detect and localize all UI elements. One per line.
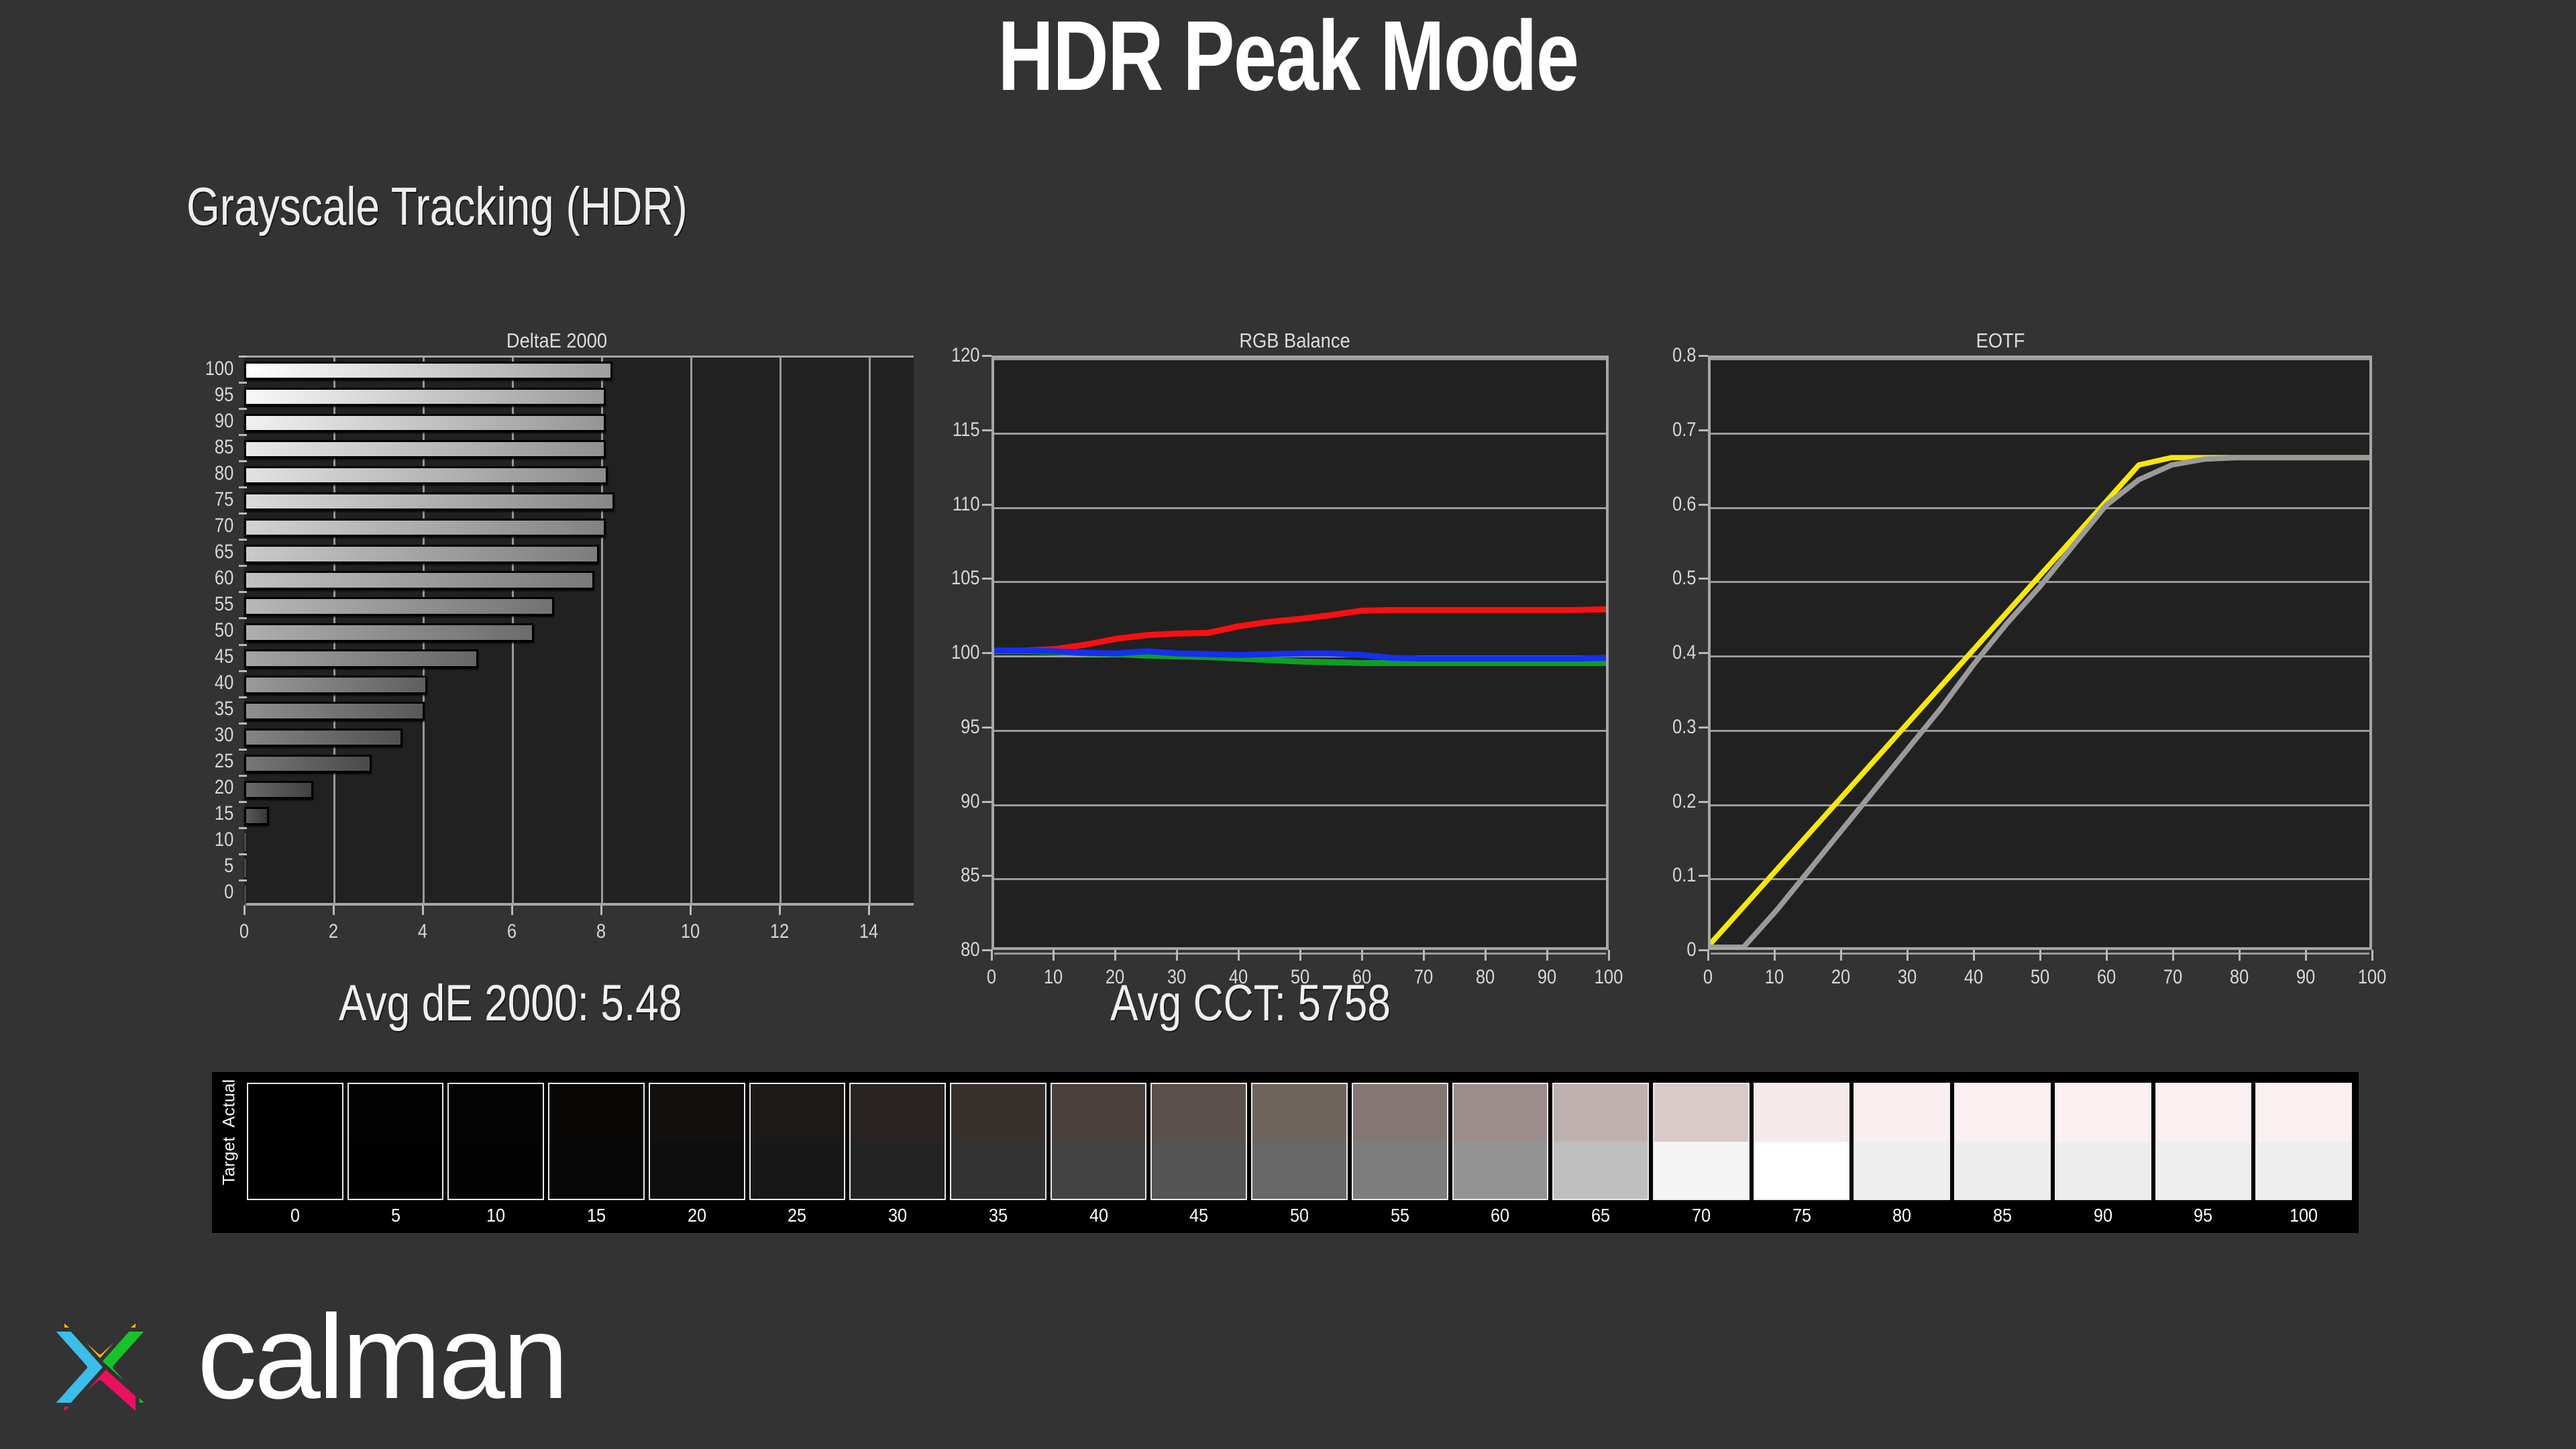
grayscale-patch <box>2055 1083 2151 1200</box>
patch-actual <box>1755 1084 1849 1142</box>
x-tickmark <box>779 906 781 915</box>
eotf-plot-area <box>1708 356 2372 950</box>
patch-axis-labels: ActualTarget <box>212 1072 244 1233</box>
x-tick-label: 80 <box>2230 966 2249 989</box>
y-tick-label: 0 <box>1640 938 1697 961</box>
y-tick-label: 50 <box>191 619 234 642</box>
x-tick-label: 70 <box>1414 966 1433 989</box>
patch-target <box>1855 1142 1949 1199</box>
y-tickmark <box>239 460 247 462</box>
patch-stimulus-label: 85 <box>1993 1205 2012 1226</box>
patch-target <box>1252 1142 1346 1199</box>
y-tick-label: 0 <box>191 881 234 904</box>
x-tickmark <box>1707 950 1709 961</box>
x-tick-label: 0 <box>987 966 996 989</box>
patch-stimulus-label: 70 <box>1692 1205 1711 1226</box>
calman-wordmark: calman <box>197 1297 566 1417</box>
patch-stimulus-label: 55 <box>1391 1205 1409 1226</box>
x-tickmark <box>1176 950 1178 961</box>
y-tickmark <box>239 539 247 541</box>
deltae-bar <box>244 545 599 563</box>
patch-stimulus-label: 0 <box>290 1205 300 1226</box>
y-tick-label: 0.6 <box>1640 493 1697 516</box>
patch-actual <box>1052 1084 1146 1142</box>
patch-target <box>851 1142 945 1199</box>
rgb-plot-area <box>991 356 1609 950</box>
x-tickmark <box>2039 950 2041 961</box>
x-tick-label: 12 <box>770 920 789 943</box>
y-tickmark <box>239 408 247 410</box>
chart-title-deltae: DeltaE 2000 <box>244 329 870 353</box>
patch-actual <box>1152 1084 1246 1142</box>
x-tickmark <box>690 906 692 915</box>
y-tickmark <box>982 355 991 357</box>
x-tick-label: 10 <box>681 920 700 943</box>
deltae-plot-area <box>244 356 914 906</box>
x-tickmark <box>1114 950 1116 961</box>
y-tickmark <box>982 504 991 506</box>
patch-target <box>1353 1142 1447 1199</box>
y-tickmark <box>982 652 991 654</box>
x-tick-label: 8 <box>596 920 606 943</box>
grayscale-patch <box>1352 1083 1448 1200</box>
patch-stimulus-label: 5 <box>391 1205 400 1226</box>
patch-target <box>1755 1142 1849 1199</box>
patch-target <box>2056 1142 2150 1199</box>
y-tick-label: 10 <box>191 828 234 851</box>
grayscale-patch <box>950 1083 1046 1200</box>
y-tickmark <box>239 853 247 855</box>
patch-actual <box>248 1084 342 1142</box>
patch-target <box>1955 1142 2049 1199</box>
patch-actual <box>2257 1084 2351 1142</box>
y-tickmark <box>1699 652 1708 654</box>
patch-target <box>449 1142 543 1199</box>
patch-actual <box>2056 1084 2150 1142</box>
patch-actual <box>951 1084 1045 1142</box>
y-tickmark <box>239 696 247 698</box>
y-tick-label: 65 <box>191 541 234 563</box>
section-title: Grayscale Tracking (HDR) <box>186 176 688 237</box>
series-line-blue <box>994 651 1606 659</box>
deltae-bar <box>244 440 606 458</box>
x-tick-label: 90 <box>1538 966 1556 989</box>
x-tickmark <box>1238 950 1240 961</box>
x-tickmark <box>1546 950 1548 961</box>
x-tick-label: 0 <box>1703 966 1713 989</box>
patch-actual <box>2157 1084 2251 1142</box>
deltae-bar <box>244 781 313 799</box>
y-tick-label: 35 <box>191 698 234 720</box>
patch-target <box>650 1142 744 1199</box>
y-tick-label: 85 <box>923 864 980 887</box>
y-tickmark <box>239 775 247 777</box>
x-tickmark <box>1774 950 1776 961</box>
chart-title-eotf: EOTF <box>1688 329 2314 353</box>
grayscale-patch <box>649 1083 745 1200</box>
avg-cct-label: Avg CCT: 5758 <box>1110 974 1391 1032</box>
x-tickmark <box>868 906 870 915</box>
x-tickmark <box>1840 950 1842 961</box>
x-tickmark <box>2172 950 2174 961</box>
y-tick-label: 85 <box>191 436 234 459</box>
patch-target <box>1454 1142 1548 1199</box>
y-tick-label: 75 <box>191 488 234 511</box>
grayscale-patch <box>1051 1083 1147 1200</box>
patch-stimulus-label: 90 <box>2094 1205 2112 1226</box>
x-tick-label: 100 <box>1595 966 1623 989</box>
rgb-balance-lines <box>994 358 1606 947</box>
patch-actual <box>751 1084 845 1142</box>
x-tick-label: 10 <box>1765 966 1784 989</box>
x-tickmark <box>991 950 993 961</box>
patch-actual <box>650 1084 744 1142</box>
y-tick-label: 95 <box>923 716 980 739</box>
patch-target <box>1654 1142 1748 1199</box>
grayscale-patch <box>2255 1083 2352 1200</box>
deltae-bar <box>244 362 612 380</box>
x-tickmark <box>333 906 335 915</box>
deltae-bar <box>244 466 608 484</box>
deltae-bar <box>244 807 269 825</box>
patch-stimulus-label: 50 <box>1290 1205 1309 1226</box>
y-tickmark <box>239 749 247 751</box>
y-tickmark <box>239 722 247 724</box>
y-tick-label: 0.7 <box>1640 419 1697 441</box>
y-tickmark <box>239 565 247 567</box>
patch-actual <box>1454 1084 1548 1142</box>
patch-actual <box>851 1084 945 1142</box>
patch-target <box>349 1142 443 1199</box>
x-tick-label: 70 <box>2163 966 2182 989</box>
y-tickmark <box>239 879 247 881</box>
x-tick-label: 20 <box>1831 966 1850 989</box>
y-tickmark <box>1699 801 1708 803</box>
y-tickmark <box>982 949 991 951</box>
patch-actual <box>449 1084 543 1142</box>
deltae-bar <box>244 833 246 851</box>
deltae-bar <box>244 729 402 747</box>
y-tick-label: 100 <box>923 641 980 664</box>
chart-deltae-2000: DeltaE 2000 1009590858075706560555045403… <box>201 329 912 966</box>
y-tick-label: 110 <box>923 493 980 516</box>
y-tick-label: 30 <box>191 724 234 747</box>
x-tickmark <box>2305 950 2307 961</box>
x-tickmark <box>1361 950 1363 961</box>
deltae-bar <box>244 571 594 589</box>
x-tick-label: 6 <box>507 920 517 943</box>
deltae-bar <box>244 702 425 720</box>
deltae-bars <box>244 358 914 903</box>
patch-stimulus-label: 65 <box>1591 1205 1610 1226</box>
chart-rgb-balance: RGB Balance 80859095100105110115120 0102… <box>939 329 1650 966</box>
grayscale-patch <box>2155 1083 2252 1200</box>
y-tickmark <box>1699 355 1708 357</box>
patch-stimulus-label: 80 <box>1892 1205 1911 1226</box>
y-tickmark <box>239 356 247 358</box>
avg-de-2000-label: Avg dE 2000: 5.48 <box>339 974 682 1032</box>
patch-stimulus-label: 75 <box>1792 1205 1811 1226</box>
patch-actual <box>1252 1084 1346 1142</box>
x-tickmark <box>1299 950 1301 961</box>
grayscale-patch <box>247 1083 343 1200</box>
series-line-measured <box>1711 458 2369 947</box>
x-tick-label: 90 <box>2296 966 2315 989</box>
chart-eotf: EOTF 00.10.20.30.40.50.60.70.8 010203040… <box>1645 329 2356 966</box>
y-tick-label: 120 <box>923 344 980 367</box>
y-tick-label: 20 <box>191 776 234 799</box>
grayscale-patch <box>1754 1083 1850 1200</box>
x-tick-label: 0 <box>239 920 249 943</box>
deltae-bar <box>244 755 372 773</box>
x-tickmark <box>2106 950 2108 961</box>
grayscale-patch <box>347 1083 444 1200</box>
patch-target <box>248 1142 342 1199</box>
patch-actual <box>1353 1084 1447 1142</box>
y-tick-label: 60 <box>191 567 234 590</box>
grayscale-patch <box>1954 1083 2051 1200</box>
grayscale-patch <box>1854 1083 1950 1200</box>
patch-actual <box>1554 1084 1648 1142</box>
x-tickmark <box>422 906 424 915</box>
grayscale-patch <box>548 1083 645 1200</box>
y-tickmark <box>239 486 247 488</box>
y-tick-label: 0.8 <box>1640 344 1697 367</box>
patch-target <box>751 1142 845 1199</box>
y-tickmark <box>1699 949 1708 951</box>
y-tick-label: 0.4 <box>1640 641 1697 664</box>
y-tickmark <box>1699 429 1708 431</box>
x-tickmark <box>1608 950 1610 961</box>
x-tickmark <box>244 906 246 915</box>
y-tickmark <box>982 727 991 729</box>
patch-stimulus-label: 40 <box>1089 1205 1108 1226</box>
patch-stimulus-label: 45 <box>1189 1205 1208 1226</box>
series-line-red <box>994 609 1606 651</box>
y-tick-label: 90 <box>923 790 980 813</box>
y-tickmark <box>239 591 247 593</box>
y-tickmark <box>982 429 991 431</box>
x-tickmark <box>1973 950 1975 961</box>
y-tickmark <box>239 513 247 515</box>
y-tick-label: 100 <box>191 358 234 380</box>
eotf-lines <box>1711 358 2369 947</box>
y-tickmark <box>1699 578 1708 580</box>
y-tick-label: 45 <box>191 645 234 668</box>
patch-actual <box>1955 1084 2049 1142</box>
x-tick-label: 2 <box>329 920 338 943</box>
grayscale-patch <box>849 1083 946 1200</box>
x-tick-label: 80 <box>1476 966 1495 989</box>
page-title: HDR Peak Mode <box>283 4 2292 108</box>
patch-target <box>2257 1142 2351 1199</box>
y-tickmark <box>982 578 991 580</box>
y-tick-label: 0.3 <box>1640 716 1697 739</box>
deltae-bar <box>244 649 478 667</box>
patch-stimulus-label: 20 <box>688 1205 706 1226</box>
grayscale-patch <box>447 1083 544 1200</box>
deltae-bar <box>244 519 606 537</box>
x-tick-label: 4 <box>418 920 427 943</box>
x-tickmark <box>1423 950 1425 961</box>
calman-diamond-icon <box>30 1300 170 1434</box>
grayscale-patch <box>1552 1083 1649 1200</box>
y-tick-label: 15 <box>191 802 234 825</box>
y-tickmark <box>982 801 991 803</box>
patch-stimulus-label: 95 <box>2194 1205 2212 1226</box>
y-tick-label: 70 <box>191 515 234 537</box>
patch-stimulus-label: 10 <box>486 1205 505 1226</box>
y-tickmark <box>239 382 247 384</box>
chevron-cyan <box>52 1330 105 1405</box>
x-tick-label: 60 <box>2097 966 2116 989</box>
grayscale-patch <box>1251 1083 1348 1200</box>
deltae-bar <box>244 414 606 432</box>
y-tick-label: 40 <box>191 672 234 694</box>
patch-actual <box>1855 1084 1949 1142</box>
patch-target <box>1152 1142 1246 1199</box>
deltae-bar <box>244 388 606 406</box>
deltae-bar <box>244 597 554 615</box>
x-tickmark <box>2371 950 2373 961</box>
x-tick-label: 30 <box>1898 966 1917 989</box>
y-tick-label: 55 <box>191 593 234 616</box>
y-tickmark <box>239 801 247 803</box>
patch-stimulus-label: 60 <box>1491 1205 1509 1226</box>
deltae-bar <box>244 885 246 904</box>
patch-stimulus-label: 100 <box>2290 1205 2318 1226</box>
y-tick-label: 0.2 <box>1640 790 1697 813</box>
y-tick-label: 5 <box>191 855 234 877</box>
y-tickmark <box>239 617 247 619</box>
y-tickmark <box>239 644 247 646</box>
calman-logo: calman <box>30 1295 674 1429</box>
y-tickmark <box>1699 504 1708 506</box>
x-tickmark <box>2239 950 2241 961</box>
deltae-bar <box>244 623 534 641</box>
patch-actual <box>1654 1084 1748 1142</box>
patch-target <box>951 1142 1045 1199</box>
y-tick-label: 25 <box>191 750 234 773</box>
deltae-bar <box>244 492 614 511</box>
y-tick-label: 115 <box>923 419 980 441</box>
y-tick-label: 0.1 <box>1640 864 1697 887</box>
y-tickmark <box>1699 727 1708 729</box>
y-tickmark <box>982 875 991 877</box>
x-tick-label: 100 <box>2358 966 2387 989</box>
x-tick-label: 50 <box>2031 966 2049 989</box>
y-tick-label: 90 <box>191 410 234 433</box>
grayscale-patch <box>749 1083 846 1200</box>
x-tickmark <box>1907 950 1909 961</box>
y-tickmark <box>239 434 247 436</box>
patch-stimulus-label: 35 <box>989 1205 1008 1226</box>
patch-target <box>1554 1142 1648 1199</box>
x-tickmark <box>1485 950 1487 961</box>
deltae-bar <box>244 859 246 877</box>
x-tickmark <box>511 906 513 915</box>
y-tick-label: 95 <box>191 384 234 407</box>
patch-actual <box>349 1084 443 1142</box>
x-tick-label: 40 <box>1964 966 1983 989</box>
y-tick-label: 105 <box>923 567 980 590</box>
y-tickmark <box>1699 875 1708 877</box>
x-tick-label: 10 <box>1044 966 1063 989</box>
grayscale-patch-strip: ActualTarget 051015202530354045505560657… <box>212 1072 2359 1233</box>
chart-title-rgb: RGB Balance <box>982 329 1608 353</box>
x-tickmark <box>600 906 602 915</box>
grayscale-patch <box>1653 1083 1750 1200</box>
x-tickmark <box>1053 950 1055 961</box>
y-tick-label: 80 <box>191 462 234 485</box>
grayscale-patch <box>1150 1083 1247 1200</box>
y-tickmark <box>239 670 247 672</box>
patch-stimulus-label: 25 <box>788 1205 806 1226</box>
patch-axis-label: Target <box>220 1121 239 1201</box>
y-tick-label: 80 <box>923 938 980 961</box>
y-tickmark <box>239 827 247 829</box>
patch-target <box>549 1142 643 1199</box>
patch-actual <box>549 1084 643 1142</box>
grayscale-patch <box>1452 1083 1549 1200</box>
deltae-bar <box>244 676 427 694</box>
x-tick-label: 14 <box>859 920 878 943</box>
y-tick-label: 0.5 <box>1640 567 1697 590</box>
patch-stimulus-label: 15 <box>587 1205 606 1226</box>
patch-stimulus-label: 30 <box>888 1205 907 1226</box>
patch-target <box>1052 1142 1146 1199</box>
patch-target <box>2157 1142 2251 1199</box>
